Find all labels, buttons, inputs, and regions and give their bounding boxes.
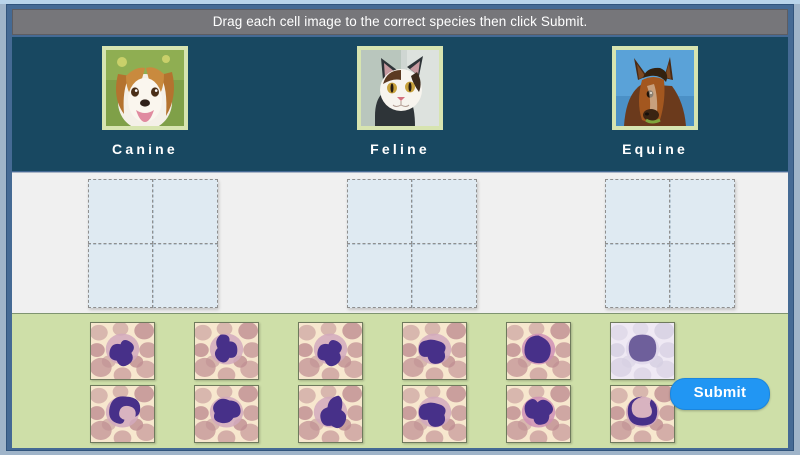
dropzone-slot[interactable] <box>670 179 735 244</box>
dropzone-slot[interactable] <box>412 244 477 309</box>
species-equine[interactable]: Equine <box>530 37 780 171</box>
cell-image-tile[interactable] <box>298 322 363 380</box>
cell-image-tile[interactable] <box>298 385 363 443</box>
cell-image-tile[interactable] <box>90 322 155 380</box>
cell-image-tile[interactable] <box>194 385 259 443</box>
cell-image-tile[interactable] <box>90 385 155 443</box>
submit-button[interactable]: Submit <box>670 378 770 410</box>
dropzone-feline[interactable] <box>347 179 477 308</box>
cell-image-tile[interactable] <box>610 385 675 443</box>
dog-photo <box>102 46 188 130</box>
cell-image-tile[interactable] <box>610 322 675 380</box>
dropzone-slot[interactable] <box>670 244 735 309</box>
cell-image-tile[interactable] <box>194 322 259 380</box>
species-header-band: Canine <box>12 37 788 171</box>
dropzone-slot[interactable] <box>605 179 670 244</box>
cell-image-tile[interactable] <box>402 385 467 443</box>
species-label-equine: Equine <box>530 141 780 157</box>
dropzone-slot[interactable] <box>412 179 477 244</box>
instruction-bar: Drag each cell image to the correct spec… <box>12 9 788 35</box>
cell-image-tile[interactable] <box>506 322 571 380</box>
dropzone-slot[interactable] <box>153 179 218 244</box>
dropzone-band <box>12 172 788 314</box>
cell-image-tile[interactable] <box>506 385 571 443</box>
dropzone-slot[interactable] <box>88 244 153 309</box>
dropzone-slot[interactable] <box>88 179 153 244</box>
activity-window: Drag each cell image to the correct spec… <box>0 0 800 455</box>
species-canine[interactable]: Canine <box>20 37 270 171</box>
cell-image-tray: Submit <box>12 313 788 448</box>
dropzone-equine[interactable] <box>605 179 735 308</box>
dropzone-slot[interactable] <box>347 179 412 244</box>
dropzone-slot[interactable] <box>605 244 670 309</box>
cell-image-tile[interactable] <box>402 322 467 380</box>
horse-photo <box>612 46 698 130</box>
species-feline[interactable]: Feline <box>275 37 525 171</box>
species-label-canine: Canine <box>20 141 270 157</box>
species-label-feline: Feline <box>275 141 525 157</box>
cat-photo <box>357 46 443 130</box>
dropzone-slot[interactable] <box>347 244 412 309</box>
instruction-text: Drag each cell image to the correct spec… <box>12 9 788 35</box>
dropzone-canine[interactable] <box>88 179 218 308</box>
dropzone-slot[interactable] <box>153 244 218 309</box>
